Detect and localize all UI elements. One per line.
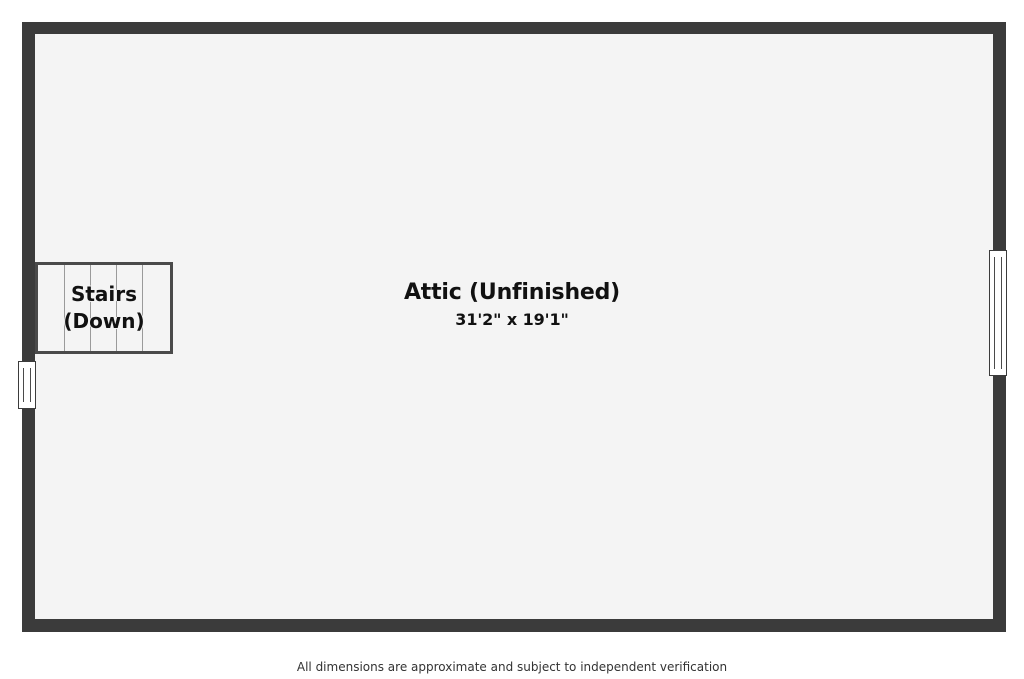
attic-floor-area: [35, 34, 993, 619]
stairs-label: Stairs (Down): [38, 281, 170, 335]
window-right-wall: [989, 250, 1007, 376]
window-pane-line: [994, 257, 995, 369]
window-left-wall: [18, 361, 36, 409]
window-pane-line: [30, 368, 31, 402]
disclaimer-text: All dimensions are approximate and subje…: [0, 659, 1024, 675]
stairs-down: Stairs (Down): [35, 262, 173, 354]
floor-plan-canvas: Attic (Unfinished) 31'2" x 19'1" Stairs …: [0, 0, 1024, 679]
window-pane-line: [23, 368, 24, 402]
stairs-label-line1: Stairs: [38, 281, 170, 308]
window-pane-line: [1001, 257, 1002, 369]
stairs-label-line2: (Down): [38, 308, 170, 335]
